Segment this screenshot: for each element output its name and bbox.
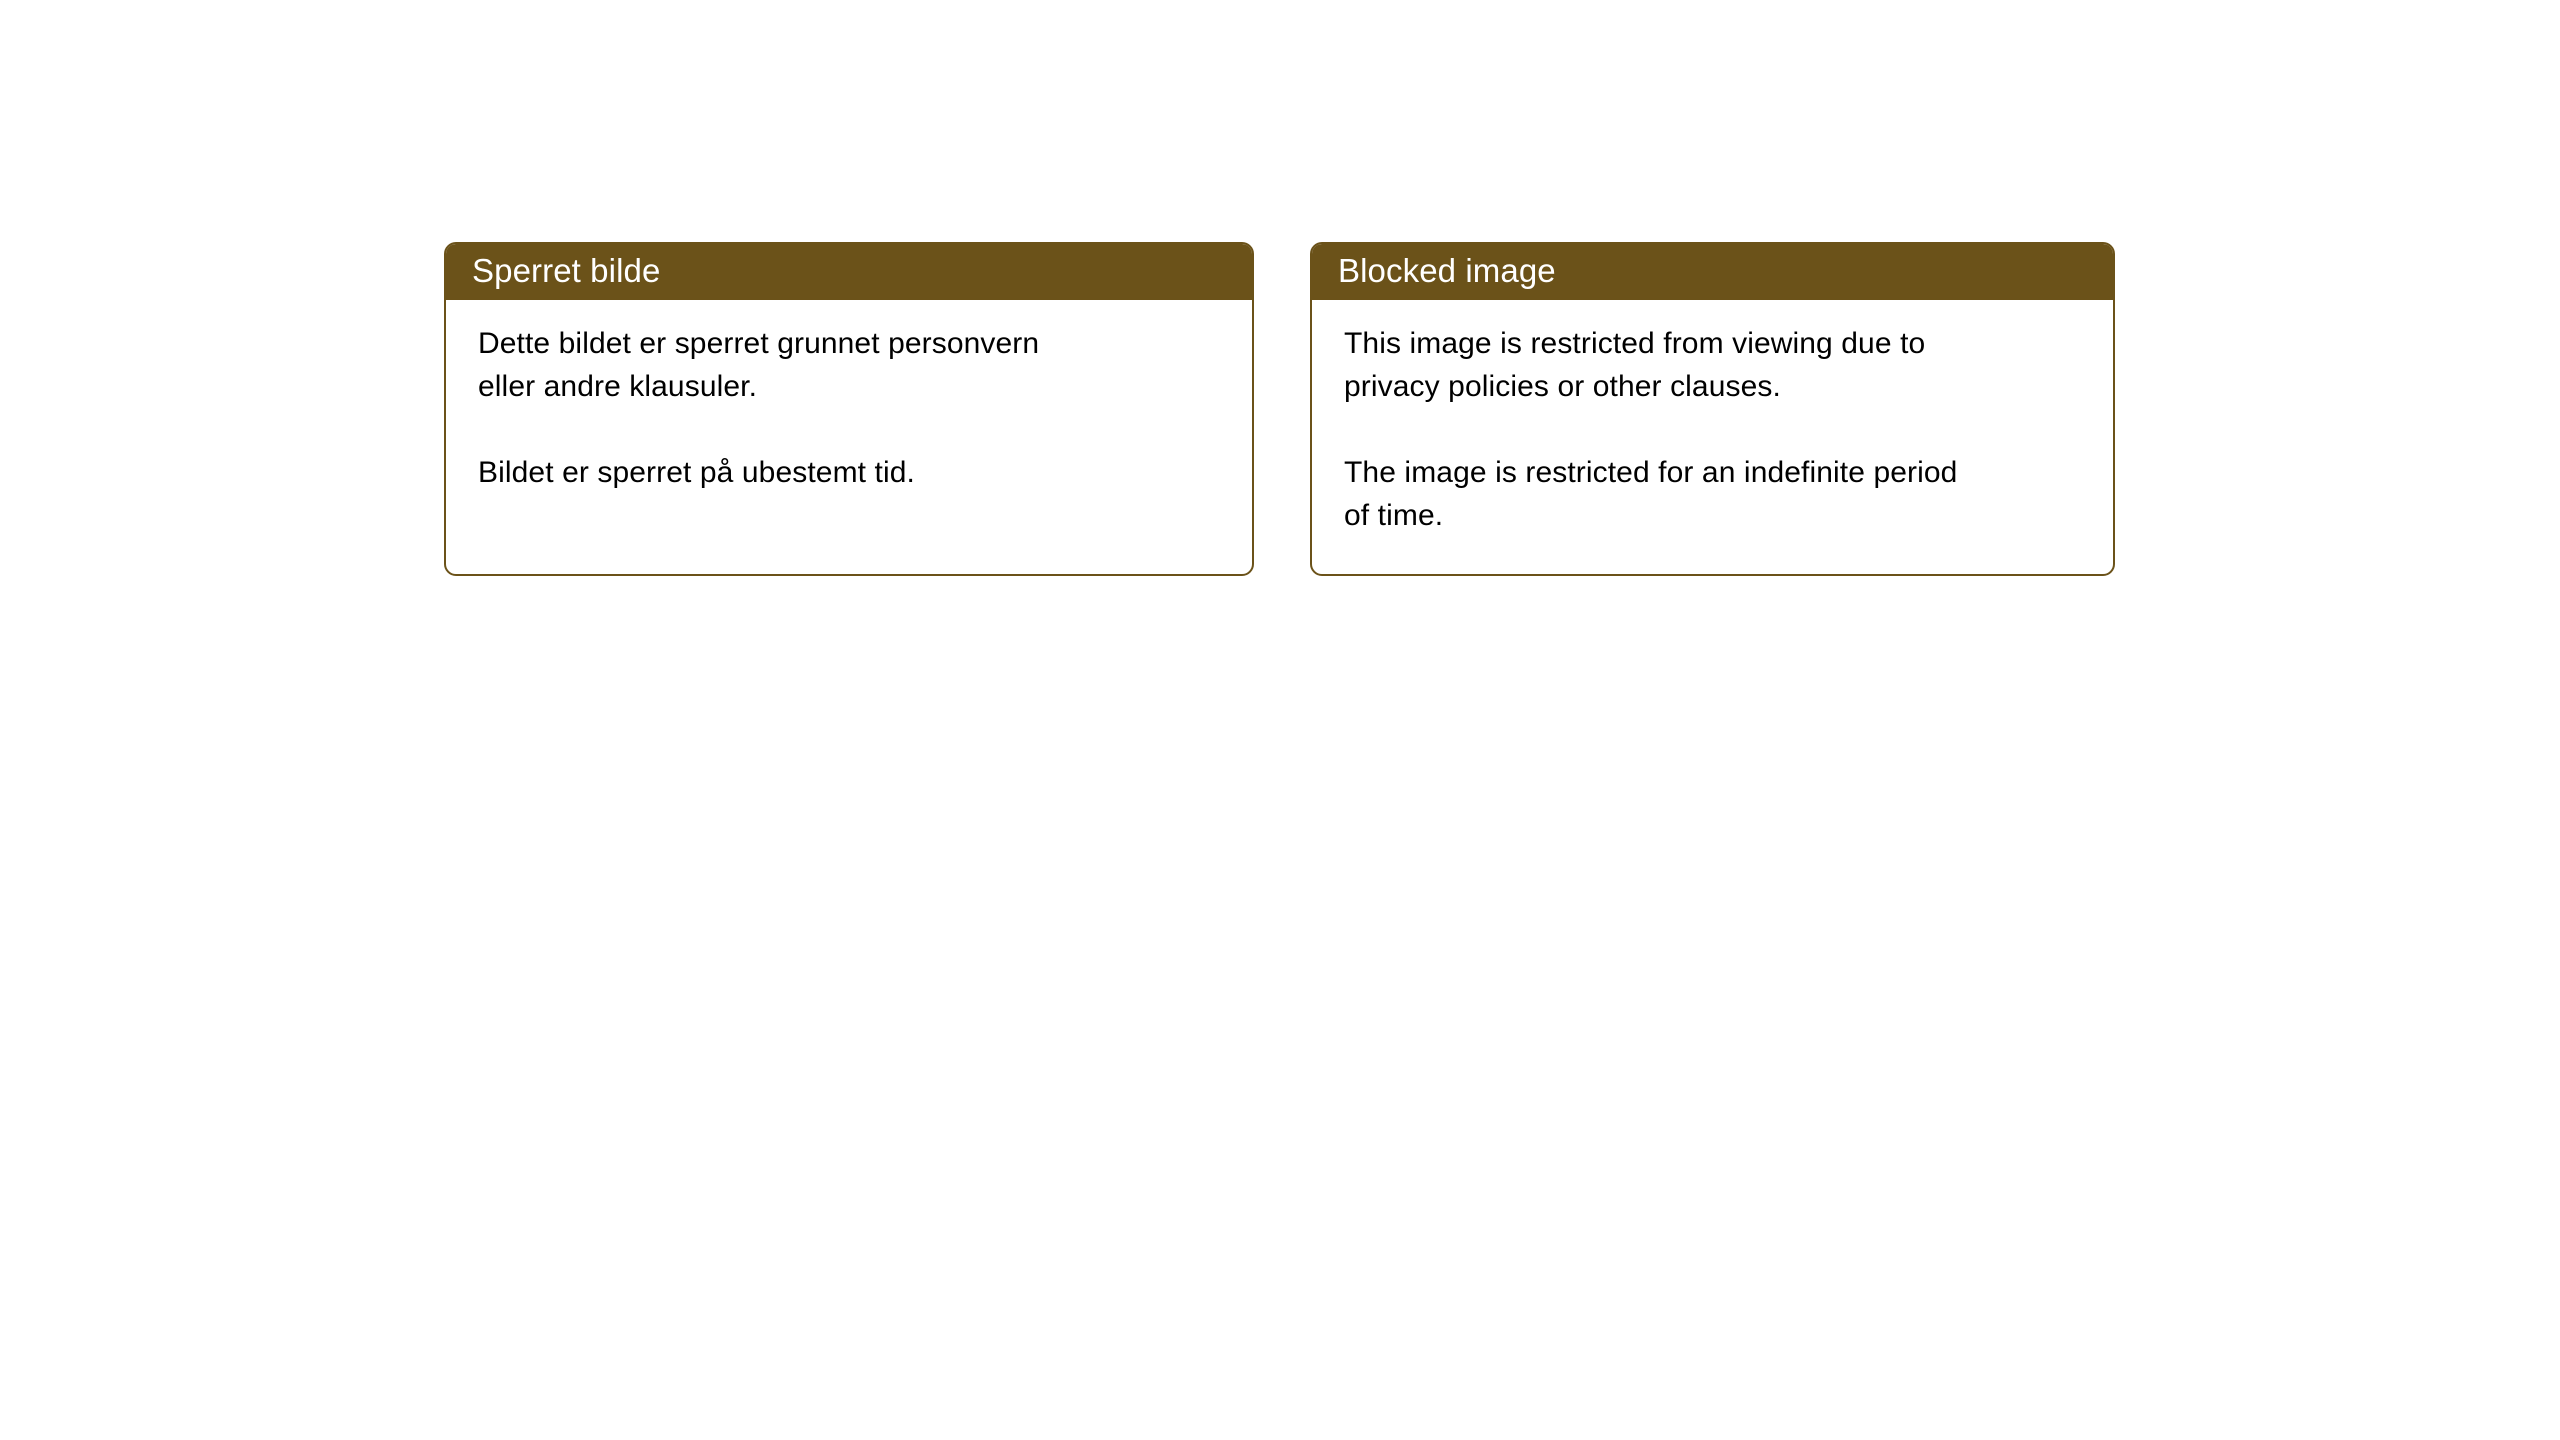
card-header-english: Blocked image (1310, 242, 2115, 300)
card-header-norwegian: Sperret bilde (444, 242, 1254, 300)
card-body-norwegian: Dette bildet er sperret grunnet personve… (446, 300, 1252, 494)
card-paragraph-duration-norwegian: Bildet er sperret på ubestemt tid. (478, 451, 1228, 494)
card-body-english: This image is restricted from viewing du… (1312, 300, 2113, 537)
card-paragraph-reason-norwegian: Dette bildet er sperret grunnet personve… (478, 322, 1228, 408)
card-title-english: Blocked image (1338, 252, 1556, 290)
blocked-image-notice-english: Blocked image This image is restricted f… (1310, 242, 2115, 576)
card-paragraph-reason-english: This image is restricted from viewing du… (1344, 322, 2089, 408)
card-title-norwegian: Sperret bilde (472, 252, 660, 290)
blocked-image-notice-norwegian: Sperret bilde Dette bildet er sperret gr… (444, 242, 1254, 576)
page-background: Sperret bilde Dette bildet er sperret gr… (0, 0, 2560, 1440)
card-paragraph-duration-english: The image is restricted for an indefinit… (1344, 451, 2089, 537)
